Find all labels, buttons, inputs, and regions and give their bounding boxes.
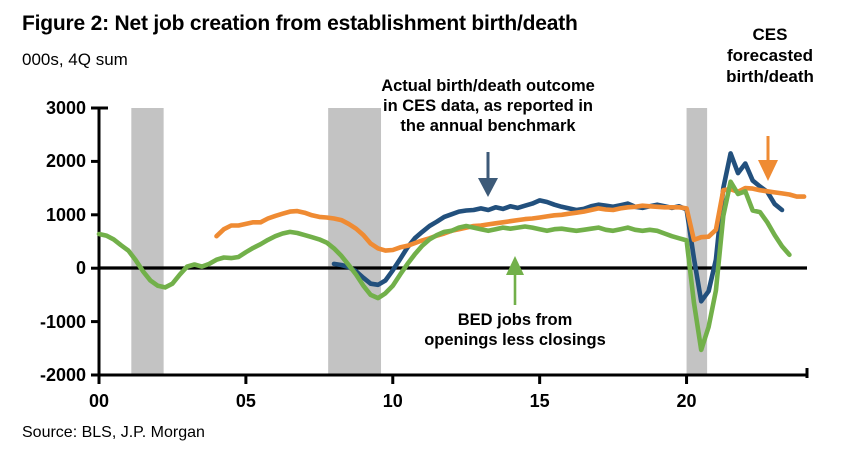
y-tick-label: 1000 bbox=[8, 206, 86, 224]
y-tick-label: -2000 bbox=[8, 366, 86, 384]
green-annotation-arrow bbox=[506, 256, 524, 305]
page-title: Figure 2: Net job creation from establis… bbox=[22, 12, 578, 36]
x-tick-label: 15 bbox=[515, 392, 565, 410]
x-tick-label: 00 bbox=[74, 392, 124, 410]
annotation-navy-label: Actual birth/death outcome in CES data, … bbox=[328, 76, 648, 136]
source-note: Source: BLS, J.P. Morgan bbox=[22, 424, 205, 442]
navy-annotation-arrow bbox=[478, 152, 498, 197]
annotation-orange-label: CES forecasted birth/death bbox=[700, 24, 840, 87]
chart-subtitle: 000s, 4Q sum bbox=[22, 50, 128, 70]
y-tick-label: -1000 bbox=[8, 313, 86, 331]
y-tick-label: 2000 bbox=[8, 152, 86, 170]
recession-band bbox=[131, 108, 163, 375]
y-tick-label: 0 bbox=[8, 259, 86, 277]
annotation-green-label: BED jobs from openings less closings bbox=[395, 310, 635, 350]
recession-band bbox=[328, 108, 381, 375]
y-tick-label: 3000 bbox=[8, 99, 86, 117]
x-tick-label: 20 bbox=[662, 392, 712, 410]
orange-annotation-arrow bbox=[758, 136, 778, 181]
x-tick-label: 05 bbox=[221, 392, 271, 410]
x-tick-label: 10 bbox=[368, 392, 418, 410]
